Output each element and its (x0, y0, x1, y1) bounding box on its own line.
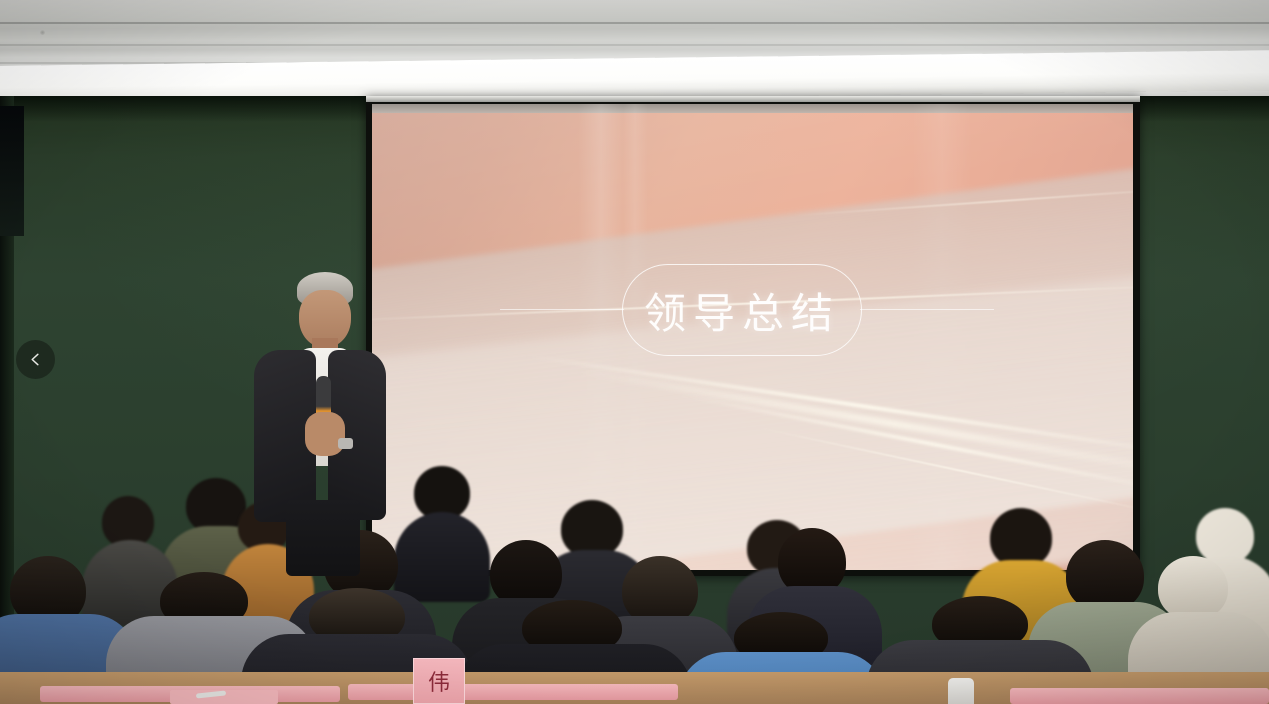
person-head (1158, 556, 1228, 620)
nameplate: 伟 (413, 658, 465, 704)
slide-connector-line-right (860, 309, 994, 310)
slide-title-pill: 领导总结 (622, 264, 862, 356)
slide-connector-line-left (500, 309, 624, 310)
wall-dark-corner (0, 106, 24, 236)
slide-title: 领导总结 (644, 280, 840, 341)
presenter-hands (305, 412, 345, 456)
screen-top-edge (372, 104, 1133, 113)
ceiling-seam (0, 22, 1269, 24)
presenter-watch (338, 438, 353, 449)
chevron-left-icon (28, 352, 43, 367)
table-runner (348, 684, 678, 700)
ceiling-seam (0, 44, 1269, 46)
ceiling-screw (40, 30, 45, 35)
prev-button[interactable] (16, 340, 55, 379)
presenter (250, 272, 390, 574)
photo-scene: 领导总结 (0, 0, 1269, 704)
table-runner (1010, 688, 1269, 704)
nameplate-text: 伟 (428, 665, 450, 697)
drink-bottle (948, 678, 974, 704)
presenter-trousers (286, 500, 360, 576)
